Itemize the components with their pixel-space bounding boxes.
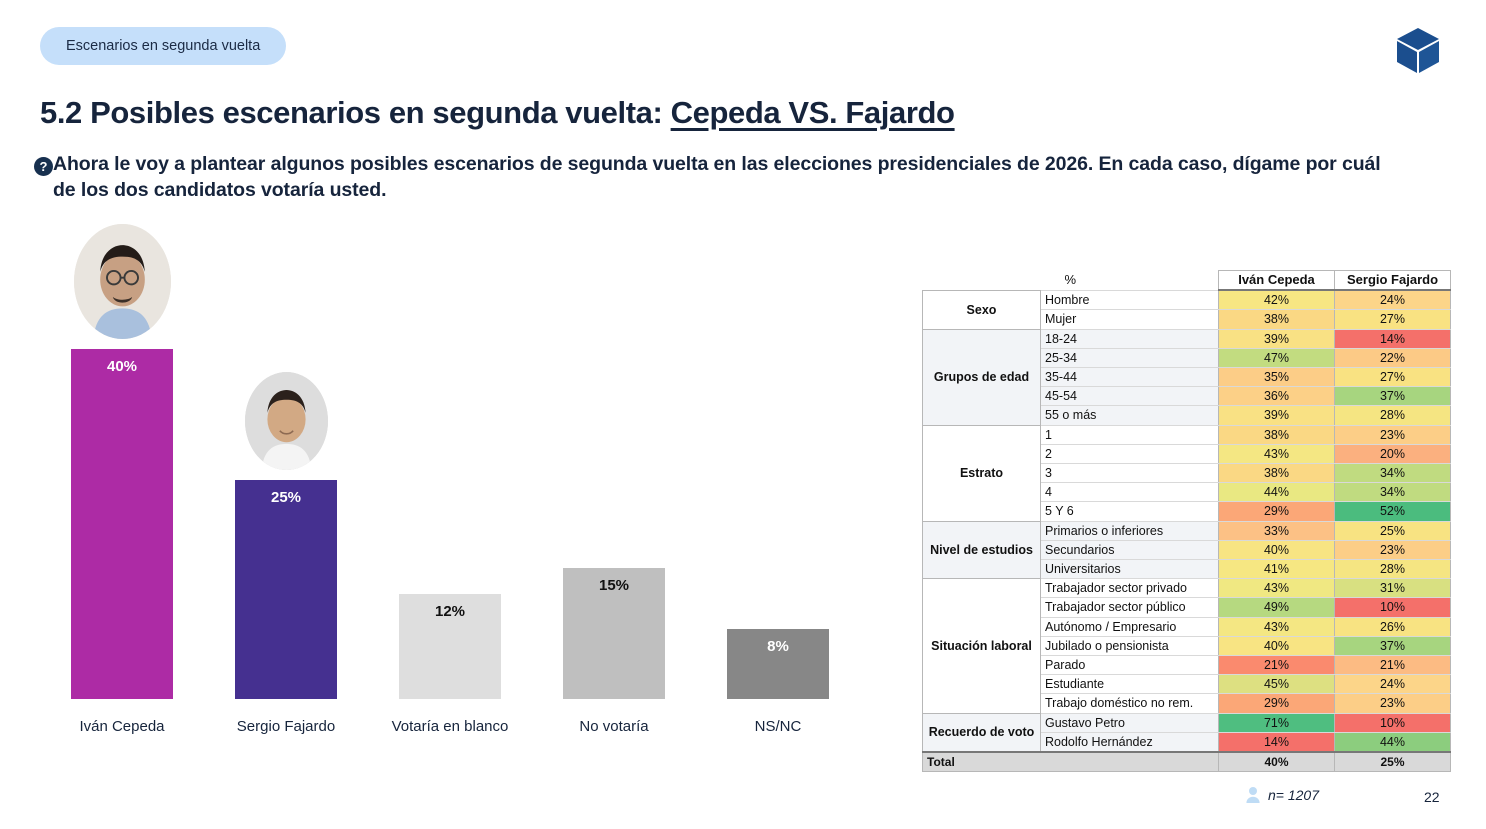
bar-column: 25% <box>204 279 368 699</box>
table-value-cell: 35% <box>1219 368 1335 387</box>
bar: 25% <box>235 480 337 699</box>
table-row: Estrato138%23% <box>923 425 1451 444</box>
table-value-cell: 52% <box>1335 502 1451 521</box>
table-value-cell: 25% <box>1335 521 1451 540</box>
bar-column: 12% <box>368 279 532 699</box>
bar-category-label: No votaría <box>532 718 696 735</box>
table-category-label: Trabajador sector público <box>1041 598 1219 617</box>
table-column-header-0: Iván Cepeda <box>1219 271 1335 291</box>
table-category-label: 55 o más <box>1041 406 1219 425</box>
bar-category-label: Sergio Fajardo <box>204 718 368 735</box>
table-group-label: Nivel de estudios <box>923 521 1041 579</box>
table-category-label: Trabajador sector privado <box>1041 579 1219 598</box>
bar: 12% <box>399 594 501 699</box>
table-value-cell: 37% <box>1335 636 1451 655</box>
page-number: 22 <box>1424 789 1440 805</box>
bar-value-label: 8% <box>767 638 789 655</box>
page-title: 5.2 Posibles escenarios en segunda vuelt… <box>40 95 955 131</box>
bar-value-label: 15% <box>599 577 629 594</box>
table-value-cell: 27% <box>1335 310 1451 329</box>
table-value-cell: 26% <box>1335 617 1451 636</box>
table-value-cell: 45% <box>1219 675 1335 694</box>
table-value-cell: 28% <box>1335 406 1451 425</box>
table-value-cell: 38% <box>1219 310 1335 329</box>
table-value-cell: 36% <box>1219 387 1335 406</box>
table-value-cell: 47% <box>1219 348 1335 367</box>
cube-logo-icon <box>1392 24 1444 76</box>
bar-value-label: 40% <box>107 358 137 375</box>
table-body: SexoHombre42%24%Mujer38%27%Grupos de eda… <box>923 290 1451 772</box>
crosstab-table: % Iván Cepeda Sergio Fajardo SexoHombre4… <box>922 270 1451 772</box>
table-header: % Iván Cepeda Sergio Fajardo <box>923 271 1451 291</box>
table-category-label: Primarios o inferiores <box>1041 521 1219 540</box>
bar-value-label: 12% <box>435 603 465 620</box>
bar-column: 40% <box>40 279 204 699</box>
table-category-label: 25-34 <box>1041 348 1219 367</box>
table-value-cell: 43% <box>1219 444 1335 463</box>
table-group-label: Sexo <box>923 290 1041 329</box>
section-badge: Escenarios en segunda vuelta <box>40 27 286 65</box>
page-title-underlined: Cepeda VS. Fajardo <box>671 95 955 130</box>
table-value-cell: 40% <box>1219 636 1335 655</box>
section-badge-label: Escenarios en segunda vuelta <box>66 38 260 54</box>
table-value-cell: 44% <box>1335 732 1451 752</box>
table-category-label: 3 <box>1041 464 1219 483</box>
table-value-cell: 34% <box>1335 483 1451 502</box>
page-title-prefix: 5.2 Posibles escenarios en segunda vuelt… <box>40 95 671 130</box>
table-category-label: Estudiante <box>1041 675 1219 694</box>
bar: 8% <box>727 629 829 699</box>
table-row: Nivel de estudiosPrimarios o inferiores3… <box>923 521 1451 540</box>
table-category-label: 1 <box>1041 425 1219 444</box>
table-row: Situación laboralTrabajador sector priva… <box>923 579 1451 598</box>
sample-size-label: n= 1207 <box>1268 787 1319 803</box>
table-category-label: Mujer <box>1041 310 1219 329</box>
table-group-label: Situación laboral <box>923 579 1041 713</box>
table-value-cell: 42% <box>1219 290 1335 310</box>
table-total-value: 25% <box>1335 752 1451 772</box>
table-value-cell: 31% <box>1335 579 1451 598</box>
table-total-row: Total40%25% <box>923 752 1451 772</box>
table-column-header-1: Sergio Fajardo <box>1335 271 1451 291</box>
table-value-cell: 43% <box>1219 617 1335 636</box>
table-value-cell: 23% <box>1335 425 1451 444</box>
bar: 15% <box>563 568 665 699</box>
table-value-cell: 29% <box>1219 502 1335 521</box>
table-value-cell: 39% <box>1219 406 1335 425</box>
table-value-cell: 38% <box>1219 425 1335 444</box>
table-value-cell: 37% <box>1335 387 1451 406</box>
table-value-cell: 14% <box>1219 732 1335 752</box>
table-value-cell: 71% <box>1219 713 1335 732</box>
table-category-label: Secundarios <box>1041 540 1219 559</box>
table-category-label: 5 Y 6 <box>1041 502 1219 521</box>
table-value-cell: 41% <box>1219 560 1335 579</box>
table-value-cell: 27% <box>1335 368 1451 387</box>
table-row: SexoHombre42%24% <box>923 290 1451 310</box>
table-category-label: Autónomo / Empresario <box>1041 617 1219 636</box>
table-row: Grupos de edad18-2439%14% <box>923 329 1451 348</box>
question-mark-icon: ? <box>34 157 53 176</box>
table-value-cell: 20% <box>1335 444 1451 463</box>
bar-category-label: Iván Cepeda <box>40 718 204 735</box>
table-value-cell: 33% <box>1219 521 1335 540</box>
table-value-cell: 28% <box>1335 560 1451 579</box>
table-category-label: 18-24 <box>1041 329 1219 348</box>
table-row: Recuerdo de votoGustavo Petro71%10% <box>923 713 1451 732</box>
table-category-label: Rodolfo Hernández <box>1041 732 1219 752</box>
table-group-label: Estrato <box>923 425 1041 521</box>
table-value-cell: 23% <box>1335 694 1451 713</box>
bar-value-label: 25% <box>271 489 301 506</box>
table-category-label: Hombre <box>1041 290 1219 310</box>
table-value-cell: 14% <box>1335 329 1451 348</box>
table-value-cell: 22% <box>1335 348 1451 367</box>
table-value-cell: 38% <box>1219 464 1335 483</box>
table-value-cell: 21% <box>1219 656 1335 675</box>
table-value-cell: 39% <box>1219 329 1335 348</box>
table-group-label: Recuerdo de voto <box>923 713 1041 752</box>
question-text: Ahora le voy a plantear algunos posibles… <box>53 152 1394 204</box>
table-category-label: 4 <box>1041 483 1219 502</box>
bar-chart-bars: 40%25%12%15%8% <box>40 279 860 699</box>
table-value-cell: 29% <box>1219 694 1335 713</box>
table-category-label: Trabajo doméstico no rem. <box>1041 694 1219 713</box>
table-value-cell: 40% <box>1219 540 1335 559</box>
table-value-cell: 49% <box>1219 598 1335 617</box>
table-category-label: 2 <box>1041 444 1219 463</box>
table-total-value: 40% <box>1219 752 1335 772</box>
table-total-label: Total <box>923 752 1219 772</box>
table-value-cell: 34% <box>1335 464 1451 483</box>
table-group-label: Grupos de edad <box>923 329 1041 425</box>
table-value-cell: 43% <box>1219 579 1335 598</box>
table-category-label: Parado <box>1041 656 1219 675</box>
table-value-cell: 21% <box>1335 656 1451 675</box>
bar-category-label: Votaría en blanco <box>368 718 532 735</box>
candidate-photo <box>74 224 171 339</box>
table-category-label: 45-54 <box>1041 387 1219 406</box>
bar: 40% <box>71 349 173 699</box>
person-icon <box>1245 786 1261 803</box>
bar-column: 15% <box>532 279 696 699</box>
table-corner-label: % <box>923 271 1219 291</box>
table-value-cell: 10% <box>1335 713 1451 732</box>
candidate-photo <box>245 372 328 470</box>
bar-category-label: NS/NC <box>696 718 860 735</box>
bar-column: 8% <box>696 279 860 699</box>
table-category-label: Jubilado o pensionista <box>1041 636 1219 655</box>
table-value-cell: 10% <box>1335 598 1451 617</box>
table-value-cell: 24% <box>1335 675 1451 694</box>
sample-size: n= 1207 <box>1245 786 1319 803</box>
table-category-label: Gustavo Petro <box>1041 713 1219 732</box>
bar-chart: 40%25%12%15%8% Iván CepedaSergio Fajardo… <box>40 255 860 735</box>
table-value-cell: 23% <box>1335 540 1451 559</box>
question-block: ? Ahora le voy a plantear algunos posibl… <box>34 152 1394 204</box>
table-category-label: Universitarios <box>1041 560 1219 579</box>
bar-chart-category-labels: Iván CepedaSergio FajardoVotaría en blan… <box>40 718 860 735</box>
table-value-cell: 44% <box>1219 483 1335 502</box>
table-category-label: 35-44 <box>1041 368 1219 387</box>
table-value-cell: 24% <box>1335 290 1451 310</box>
